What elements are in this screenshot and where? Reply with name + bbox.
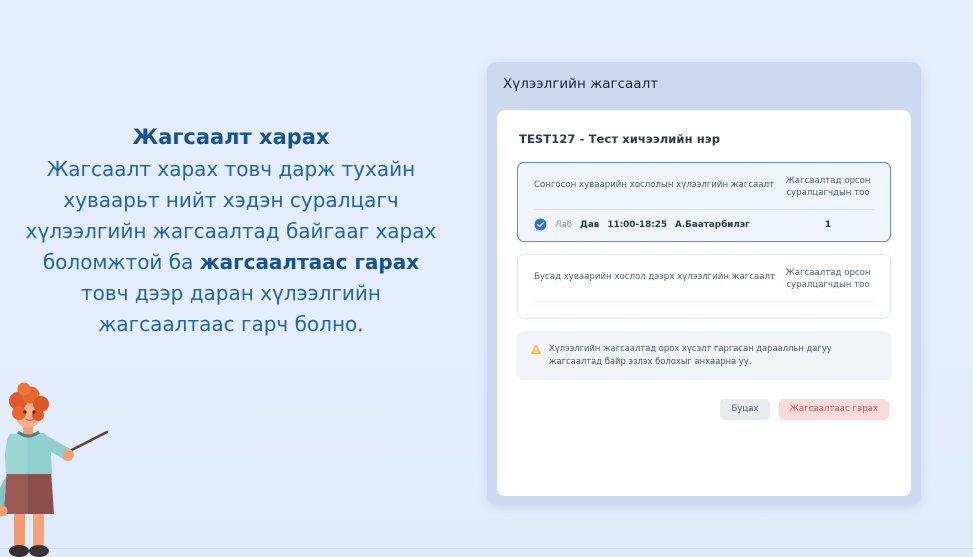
tutorial-panel: Жагсаалт харах Жагсаалт харах товч дарж … [0, 122, 462, 340]
other-schedule-label: Бусад хуваарийн хослол дээрх хүлээлгийн … [534, 267, 775, 283]
other-schedule-count-header: Жагсаалтад орсон суралцагчдын тоо [782, 267, 874, 291]
schedule-row-count: 1 [782, 219, 874, 230]
check-circle-icon [534, 218, 547, 231]
warning-text: Хүлээлгийн жагсаалтад орох хүсэлт гаргас… [549, 342, 877, 368]
course-title: TEST127 - Тест хичээлийн нэр [519, 132, 891, 146]
other-schedule-header: Бусад хуваарийн хослол дээрх хүлээлгийн … [518, 255, 890, 301]
schedule-row-time: 11:00-18:25 [607, 220, 667, 230]
app-panel: Хүлээлгийн жагсаалт TEST127 - Тест хичээ… [487, 62, 921, 504]
warning-triangle-icon [530, 343, 542, 355]
tutorial-body-part-2: товч дээр даран хүлээлгийн жагсаалтаас г… [81, 281, 381, 336]
selected-schedule-card[interactable]: Сонгосон хуваарийн хослолын хүлээлгийн ж… [517, 162, 891, 242]
schedule-row-teacher: А.Баатарбилэг [675, 220, 750, 230]
tutorial-title: Жагсаалт харах [18, 122, 444, 152]
back-button[interactable]: Буцах [720, 399, 769, 420]
selected-schedule-label: Сонгосон хуваарийн хослолын хүлээлгийн ж… [534, 175, 774, 191]
selected-schedule-count-header: Жагсаалтад орсон суралцагчдын тоо [782, 175, 874, 199]
table-row[interactable]: Лаб Дав 11:00-18:25 А.Баатарбилэг 1 [518, 210, 890, 241]
tutorial-body-emphasis: жагсаалтаас гарах [200, 250, 419, 274]
selected-schedule-header: Сонгосон хуваарийн хослолын хүлээлгийн ж… [518, 163, 890, 209]
other-schedule-empty-body [518, 302, 890, 318]
app-header-title: Хүлээлгийн жагсаалт [503, 76, 658, 92]
action-buttons: Буцах Жагсаалтаас гарах [517, 399, 891, 420]
waitlist-card: TEST127 - Тест хичээлийн нэр Сонгосон ху… [497, 110, 911, 496]
bottom-divider [0, 548, 973, 549]
tutorial-body: Жагсаалт харах товч дарж тухайн хуваарьт… [18, 154, 444, 340]
schedule-row-day: Дав [580, 220, 599, 230]
other-schedule-card[interactable]: Бусад хуваарийн хослол дээрх хүлээлгийн … [517, 254, 891, 319]
warning-banner: Хүлээлгийн жагсаалтад орох хүсэлт гаргас… [517, 331, 891, 380]
app-header: Хүлээлгийн жагсаалт [487, 62, 921, 105]
schedule-row-type: Лаб [555, 220, 572, 230]
leave-waitlist-button[interactable]: Жагсаалтаас гарах [779, 399, 889, 420]
schedule-row-details: Лаб Дав 11:00-18:25 А.Баатарбилэг [534, 218, 750, 231]
